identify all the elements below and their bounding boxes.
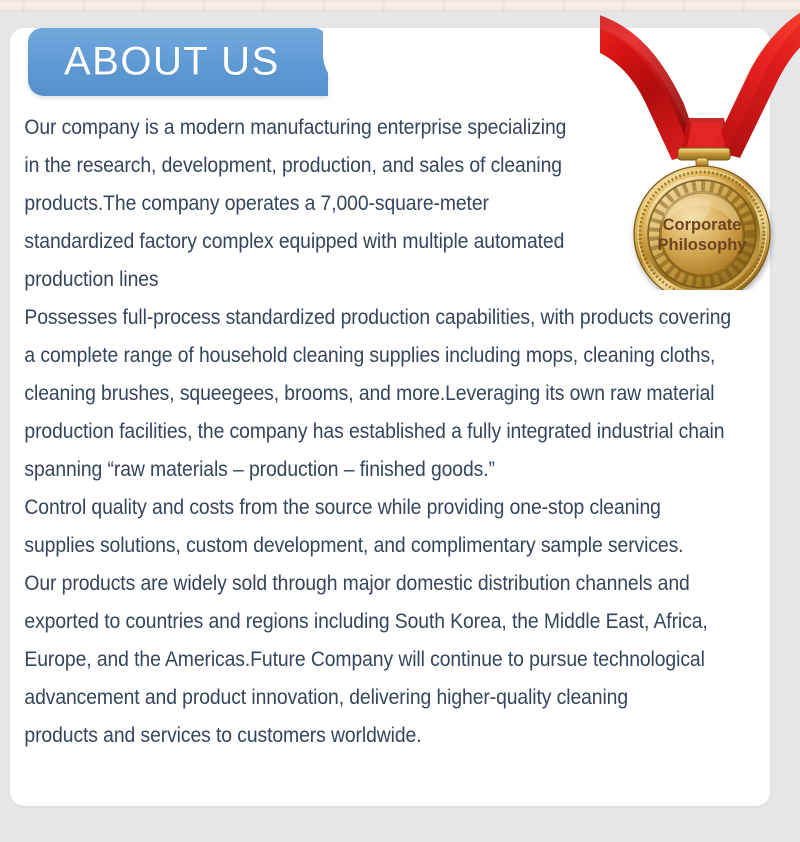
text-line: advancement and product innovation, deli…	[10, 678, 703, 716]
text-line: spanning “raw materials – production – f…	[10, 450, 703, 488]
paragraph-3: Control quality and costs from the sourc…	[10, 488, 780, 754]
text-line: cleaning brushes, squeegees, brooms, and…	[10, 374, 703, 412]
text-line: standardized factory complex equipped wi…	[10, 222, 703, 260]
text-line: production facilities, the company has e…	[10, 412, 703, 450]
wood-texture-strip	[0, 0, 800, 12]
text-line: exported to countries and regions includ…	[10, 602, 703, 640]
wood-grain-overlay	[0, 0, 800, 12]
page-title: ABOUT US	[64, 40, 280, 85]
text-line: Our products are widely sold through maj…	[10, 564, 703, 602]
section-header-tab: ABOUT US	[28, 28, 328, 96]
text-line: products and services to customers world…	[10, 716, 703, 754]
text-line: Europe, and the Americas.Future Company …	[10, 640, 703, 678]
text-line: supplies solutions, custom development, …	[10, 526, 703, 564]
text-line: products.The company operates a 7,000-sq…	[10, 184, 703, 222]
text-line: Possesses full-process standardized prod…	[10, 298, 703, 336]
paragraph-1: Our company is a modern manufacturing en…	[10, 108, 780, 298]
text-line: a complete range of household cleaning s…	[10, 336, 703, 374]
paragraph-2: Possesses full-process standardized prod…	[10, 298, 780, 488]
text-line: in the research, development, production…	[10, 146, 703, 184]
text-line: production lines	[10, 260, 703, 298]
about-us-text-block: Our company is a modern manufacturing en…	[10, 108, 780, 754]
text-line: Control quality and costs from the sourc…	[10, 488, 703, 526]
text-line: Our company is a modern manufacturing en…	[10, 108, 703, 146]
